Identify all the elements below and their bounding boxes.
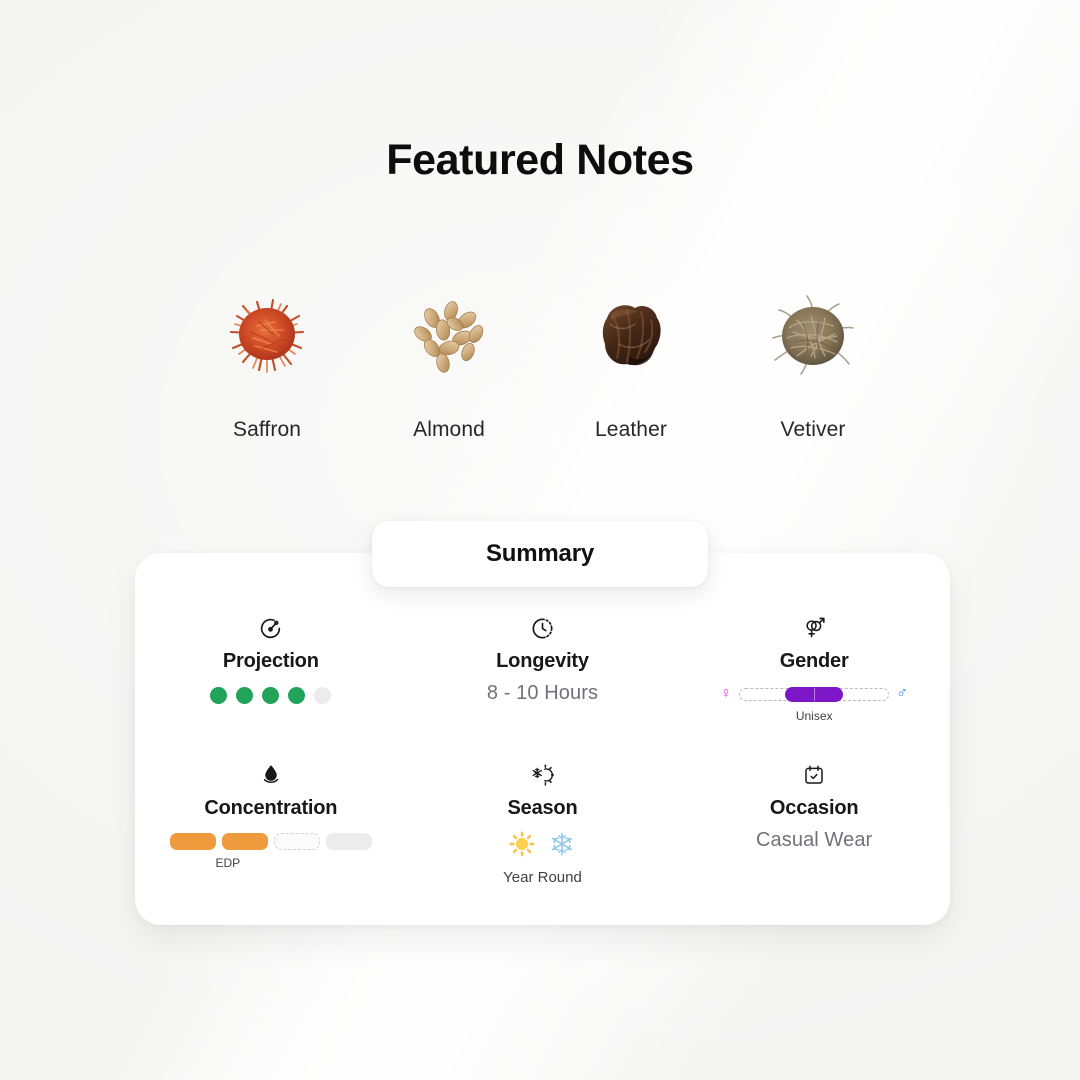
- sun-snowflake-icon: [530, 762, 554, 788]
- metric-season: Season: [407, 739, 679, 925]
- gender-value: Unisex: [796, 709, 833, 723]
- metric-value: 8 - 10 Hours: [487, 682, 598, 705]
- metric-occasion: Occasion Casual Wear: [678, 739, 950, 925]
- page-stage: Featured Notes: [0, 0, 1080, 1080]
- concentration-segment-4: [326, 833, 372, 850]
- projection-dot-4: [288, 687, 305, 704]
- metric-concentration: Concentration EDP: [135, 739, 407, 925]
- projection-dot-3: [262, 687, 279, 704]
- gauge-icon: [258, 615, 283, 641]
- metric-title: Projection: [223, 650, 319, 673]
- page-title: Featured Notes: [0, 136, 1080, 185]
- note-label: Vetiver: [722, 418, 904, 442]
- note-item-almond[interactable]: Almond: [358, 286, 540, 442]
- note-label: Saffron: [176, 418, 358, 442]
- concentration-segments: [170, 833, 372, 850]
- featured-notes-row: Saffron: [176, 286, 904, 442]
- note-label: Leather: [540, 418, 722, 442]
- gender-slider-track[interactable]: [739, 688, 889, 701]
- metric-title: Concentration: [204, 797, 337, 820]
- note-item-saffron[interactable]: Saffron: [176, 286, 358, 442]
- gender-symbols-icon: [801, 615, 828, 641]
- concentration-segment-2: [222, 833, 268, 850]
- almond-nuts-image: [399, 286, 499, 386]
- projection-dot-2: [236, 687, 253, 704]
- concentration-segment-1: [170, 833, 216, 850]
- projection-dots: [210, 687, 331, 704]
- summary-metrics-grid: Projection Longevity 8 - 10 Hours: [135, 553, 950, 925]
- metric-gender: Gender ♀ ♂ Unisex: [678, 553, 950, 739]
- note-item-leather[interactable]: Leather: [540, 286, 722, 442]
- projection-dot-5: [314, 687, 331, 704]
- saffron-threads-image: [217, 286, 317, 386]
- note-item-vetiver[interactable]: Vetiver: [722, 286, 904, 442]
- clock-icon: [530, 615, 555, 641]
- concentration-segment-3: [274, 833, 320, 850]
- projection-dot-1: [210, 687, 227, 704]
- metric-title: Season: [508, 797, 578, 820]
- metric-title: Occasion: [770, 797, 858, 820]
- metric-title: Gender: [780, 650, 849, 673]
- vetiver-roots-image: [763, 286, 863, 386]
- metric-title: Longevity: [496, 650, 589, 673]
- season-badges: [509, 831, 575, 862]
- note-label: Almond: [358, 418, 540, 442]
- snowflake-icon: [549, 831, 575, 862]
- summary-heading: Summary: [372, 521, 708, 587]
- gender-slider[interactable]: ♀ ♂: [720, 686, 908, 702]
- sun-icon: [509, 831, 535, 862]
- season-value: Year Round: [503, 869, 582, 886]
- gender-slider-knob[interactable]: [785, 687, 843, 702]
- female-symbol-icon: ♀: [720, 686, 732, 702]
- droplet-icon: [259, 762, 283, 788]
- metric-value: Casual Wear: [756, 829, 872, 852]
- concentration-value: EDP: [215, 856, 240, 870]
- calendar-check-icon: [802, 762, 826, 788]
- male-symbol-icon: ♂: [896, 686, 908, 702]
- metric-projection: Projection: [135, 553, 407, 739]
- leather-hide-image: [581, 286, 681, 386]
